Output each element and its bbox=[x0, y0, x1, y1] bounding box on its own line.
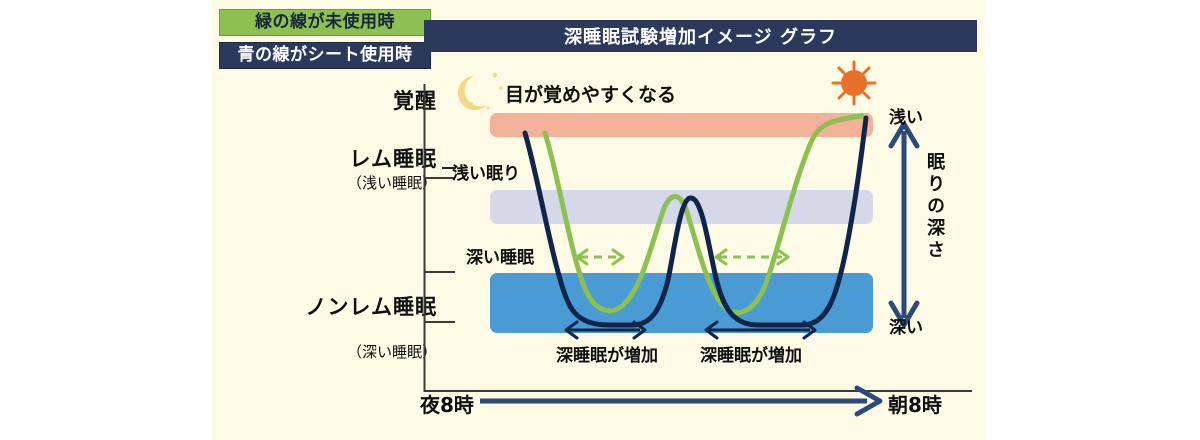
green-trough-span-1 bbox=[577, 250, 623, 264]
annotation-light-sleep: 浅い眠り bbox=[452, 159, 520, 184]
depth-scale-arrow bbox=[891, 124, 917, 325]
sleep-depth-plot bbox=[212, 0, 985, 440]
annotation-deep-increase-1: 深睡眠が増加 bbox=[556, 341, 658, 366]
depth-label-shallow: 浅い bbox=[889, 103, 923, 128]
moon-icon bbox=[458, 73, 503, 110]
depth-scale-title: 眠りの深さ bbox=[921, 152, 947, 262]
annotation-deep-sleep: 深い睡眠 bbox=[466, 243, 534, 268]
sun-icon bbox=[833, 62, 875, 104]
annotation-wake-easy: 目が覚めやすくなる bbox=[505, 80, 676, 107]
x-label-morning: 朝8時 bbox=[888, 389, 942, 418]
x-label-night: 夜8時 bbox=[420, 389, 474, 418]
annotation-deep-increase-2: 深睡眠が増加 bbox=[700, 341, 802, 366]
depth-label-deep: 深い bbox=[889, 313, 923, 338]
infographic-stage: 緑の線が未使用時 青の線がシート使用時 深睡眠試験増加イメージ グラフ 覚醒 レ… bbox=[0, 0, 1200, 440]
